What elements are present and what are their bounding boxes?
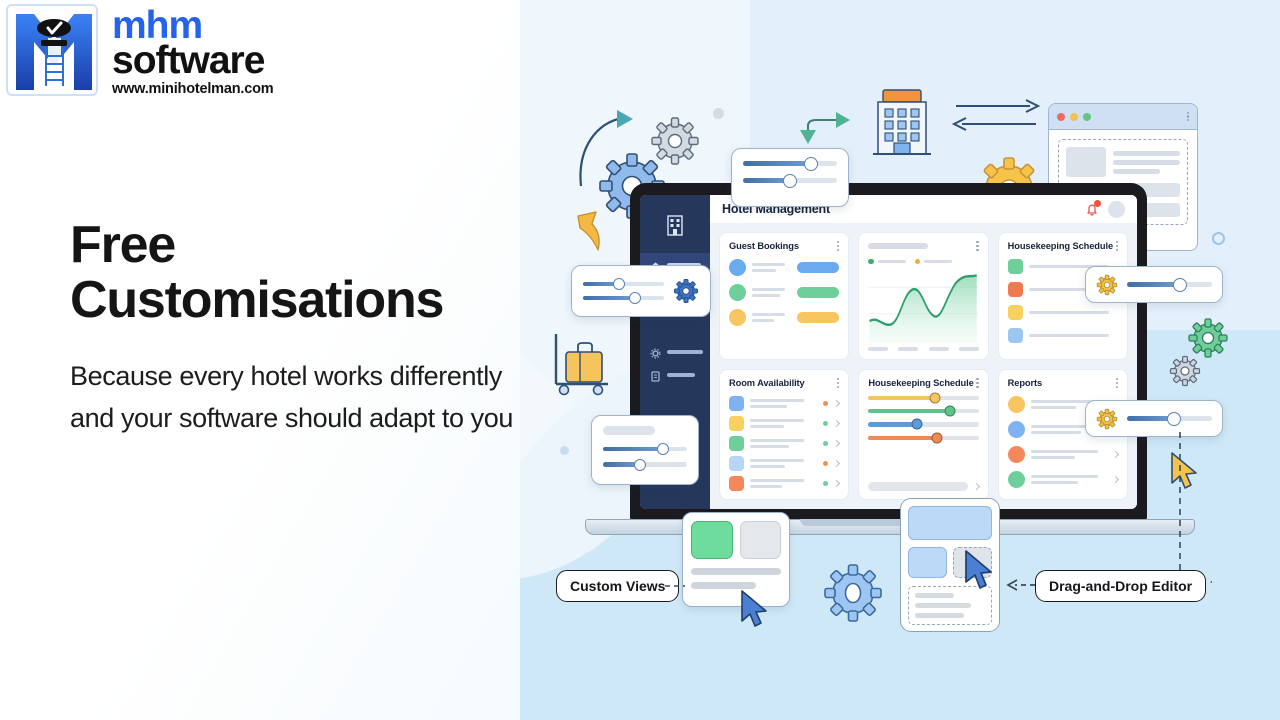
gear-grey-tiny-icon — [1168, 354, 1202, 388]
chart-legend — [868, 259, 978, 265]
sidebar-item-label — [667, 373, 695, 377]
avatar — [1008, 396, 1025, 413]
table-row[interactable] — [729, 436, 839, 451]
card-analytics-chart[interactable] — [858, 232, 988, 360]
building-icon — [664, 213, 686, 237]
avatar — [1008, 471, 1025, 488]
gear-blue-bottom-icon — [822, 562, 884, 624]
chevron-right-icon[interactable] — [833, 460, 840, 467]
laptop-device: Hotel Management Guest Bookings — [630, 183, 1147, 523]
kebab-menu-icon[interactable] — [837, 241, 839, 251]
luggage-cart-icon — [550, 330, 622, 396]
dot-blue-left — [560, 446, 569, 455]
hero-subcopy: Because every hotel works differently an… — [70, 356, 540, 440]
slider-right-upper-track[interactable] — [1127, 282, 1212, 287]
preview-line — [691, 568, 781, 575]
status-badge — [823, 481, 828, 486]
dd-line — [915, 593, 954, 598]
slider-right-lower-track[interactable] — [1127, 416, 1212, 421]
card-guest-bookings[interactable]: Guest Bookings — [719, 232, 849, 360]
card-title: Guest Bookings — [729, 241, 799, 251]
list-item[interactable] — [1008, 328, 1118, 343]
dashboard-card-grid: Guest Bookings — [710, 223, 1137, 509]
chevron-right-icon[interactable] — [833, 440, 840, 447]
color-swatch — [1008, 259, 1023, 274]
notification-badge — [1094, 200, 1101, 207]
slider-left-lower-2[interactable] — [603, 462, 687, 466]
list-item[interactable] — [729, 259, 839, 276]
area-chart — [868, 268, 978, 343]
kebab-menu-icon[interactable] — [837, 378, 839, 388]
sidebar-item-settings[interactable] — [640, 340, 710, 363]
arrow-yellow-up-icon — [572, 208, 612, 256]
card-title: Housekeeping Schedule — [1008, 241, 1113, 251]
avatar — [729, 309, 746, 326]
slider-pill-right-upper[interactable] — [1085, 266, 1223, 303]
brand-url: www.minihotelman.com — [112, 82, 273, 97]
kebab-menu-icon[interactable] — [976, 241, 978, 251]
drag-and-drop-editor-callout[interactable]: Drag-and-Drop Editor — [1035, 570, 1206, 602]
arrow-right-long-icon — [952, 96, 1040, 140]
slider-housekeeping-1[interactable] — [868, 396, 978, 400]
table-row[interactable] — [729, 416, 839, 431]
avatar[interactable] — [1108, 201, 1125, 218]
status-badge — [823, 461, 828, 466]
chevron-right-icon[interactable] — [1112, 451, 1119, 458]
list-item[interactable] — [1008, 446, 1118, 463]
kebab-menu-icon[interactable] — [1187, 112, 1189, 122]
color-swatch — [729, 436, 744, 451]
chevron-right-icon[interactable] — [1112, 476, 1119, 483]
slider-panel-left-lower[interactable] — [591, 415, 699, 485]
brand-name-bottom: software — [112, 41, 273, 80]
gear-grey-small-icon — [648, 114, 702, 168]
dashed-connector-left — [665, 580, 687, 592]
brand-logo: mhm software www.minihotelman.com — [6, 4, 273, 97]
dot-blue-small — [713, 108, 724, 119]
slider-panel-top[interactable] — [731, 148, 849, 207]
gear-icon-gold[interactable] — [1096, 274, 1118, 296]
color-swatch — [729, 416, 744, 431]
preview-tile-green — [691, 521, 733, 559]
card-title: Reports — [1008, 378, 1042, 388]
bell-icon[interactable] — [1085, 202, 1099, 217]
browser-traffic-lights — [1057, 113, 1091, 121]
avatar — [1008, 421, 1025, 438]
color-swatch — [1008, 328, 1023, 343]
status-badge — [797, 262, 839, 273]
status-badge — [797, 312, 839, 323]
slider-left-upper-1[interactable] — [583, 282, 664, 286]
list-item[interactable] — [729, 309, 839, 326]
card-housekeeping-schedule-sliders[interactable]: Housekeeping Schedule — [858, 369, 988, 500]
cursor-blue-drag-icon — [962, 548, 998, 594]
status-badge — [823, 421, 828, 426]
list-item[interactable] — [729, 284, 839, 301]
panel-title-placeholder — [603, 426, 655, 435]
custom-views-callout[interactable]: Custom Views — [556, 570, 679, 602]
color-swatch — [729, 396, 744, 411]
chevron-right-icon[interactable] — [833, 420, 840, 427]
chart-x-axis-ticks — [868, 347, 978, 351]
list-item[interactable] — [1008, 305, 1118, 320]
mhm-hotel-logo-icon — [6, 4, 98, 96]
kebab-menu-icon[interactable] — [1116, 241, 1118, 251]
avatar — [729, 259, 746, 276]
card-title-placeholder — [868, 243, 928, 249]
list-item[interactable] — [1008, 471, 1118, 488]
dd-tile-top[interactable] — [908, 506, 992, 540]
slider-top-2[interactable] — [743, 178, 837, 183]
table-row[interactable] — [729, 396, 839, 411]
status-badge — [823, 441, 828, 446]
status-badge — [823, 401, 828, 406]
hotel-building-icon — [870, 86, 936, 164]
browser-thumb — [1066, 147, 1106, 177]
color-swatch — [729, 456, 744, 471]
brand-wordmark: mhm software www.minihotelman.com — [112, 4, 273, 97]
dd-line — [915, 613, 964, 618]
color-swatch — [1008, 305, 1023, 320]
table-row[interactable] — [729, 476, 839, 491]
card-room-availability[interactable]: Room Availability — [719, 369, 849, 500]
table-row[interactable] — [729, 456, 839, 471]
slider-top-1[interactable] — [743, 161, 837, 166]
slider-left-lower-1[interactable] — [603, 447, 687, 451]
progress-bar — [868, 482, 967, 491]
slider-housekeeping-4[interactable] — [868, 436, 978, 440]
hero-headline: Free Customisations — [70, 218, 443, 328]
browser-line — [1113, 169, 1160, 174]
cursor-blue-icon — [738, 588, 772, 632]
dd-tile-left[interactable] — [908, 547, 947, 578]
browser-dot-green[interactable] — [1083, 113, 1091, 121]
arrow-left-small-icon — [1005, 578, 1037, 592]
color-swatch — [1008, 282, 1023, 297]
browser-dot-yellow[interactable] — [1070, 113, 1078, 121]
chevron-right-icon[interactable] — [973, 483, 980, 490]
sidebar-item-documents[interactable] — [640, 363, 710, 386]
legend-item — [915, 259, 953, 265]
headline-line-1: Free — [70, 218, 443, 273]
dot-outline-right — [1212, 232, 1225, 245]
slider-housekeeping-3[interactable] — [868, 422, 978, 426]
arrow-green-split-icon — [790, 108, 850, 150]
preview-tile-grey — [740, 521, 782, 559]
browser-line — [1113, 151, 1180, 156]
dd-line — [915, 603, 971, 608]
laptop-screen: Hotel Management Guest Bookings — [640, 195, 1137, 509]
dashboard-main: Hotel Management Guest Bookings — [710, 195, 1137, 509]
custom-views-preview-card[interactable] — [682, 512, 790, 607]
gear-icon-blue[interactable] — [673, 278, 699, 304]
document-icon — [650, 369, 661, 380]
chevron-right-icon[interactable] — [833, 480, 840, 487]
chevron-right-icon[interactable] — [833, 400, 840, 407]
kebab-menu-icon[interactable] — [1116, 378, 1118, 388]
kebab-menu-icon[interactable] — [976, 378, 978, 388]
sidebar-item-label — [667, 350, 703, 354]
slider-housekeeping-2[interactable] — [868, 409, 978, 413]
browser-dot-red[interactable] — [1057, 113, 1065, 121]
avatar — [1008, 446, 1025, 463]
card-title: Housekeeping Schedule — [868, 378, 973, 388]
headline-line-2: Customisations — [70, 273, 443, 328]
browser-titlebar — [1049, 104, 1197, 130]
avatar — [729, 284, 746, 301]
slider-panel-left-upper[interactable] — [571, 265, 711, 317]
color-swatch — [729, 476, 744, 491]
slider-left-upper-2[interactable] — [583, 296, 664, 300]
gear-icon — [650, 346, 661, 357]
gear-icon-gold[interactable] — [1096, 408, 1118, 430]
card-title: Room Availability — [729, 378, 805, 388]
browser-line — [1113, 160, 1180, 165]
legend-item — [868, 259, 906, 265]
status-badge — [797, 287, 839, 298]
